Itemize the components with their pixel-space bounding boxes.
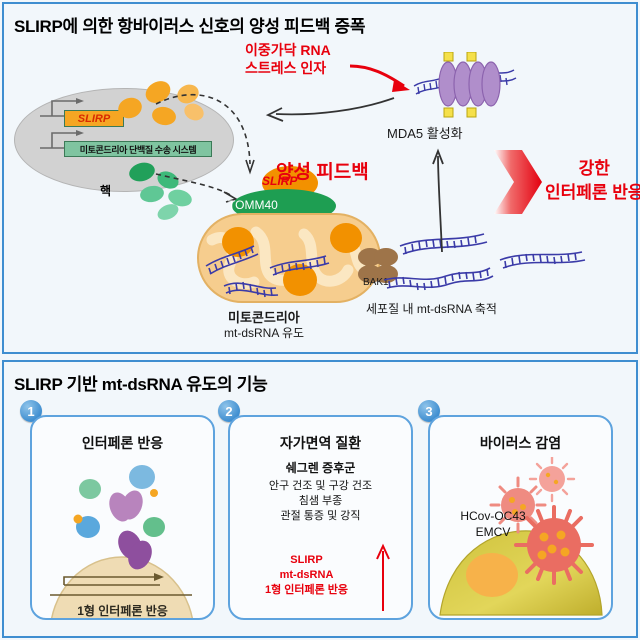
card1-cell-illustration [32, 465, 213, 620]
virus-small [530, 457, 574, 501]
card-interferon-response[interactable]: 인터페론 반응 1형 인터페론 반응 [30, 415, 215, 620]
card2-symptom-2: 침샘 부종 [230, 494, 411, 509]
dsrna-stress-label: 이중가닥 RNA 스트레스 인자 [245, 41, 331, 77]
card3-virus-2: EMCV [446, 525, 540, 540]
card-autoimmune-disease[interactable]: 자가면역 질환 쉐그렌 증후군 안구 건조 및 구강 건조 침샘 부종 관절 통… [228, 415, 413, 620]
card2-upreg-2: mt-dsRNA [244, 568, 369, 583]
card2-title: 자가면역 질환 [230, 433, 411, 453]
mda5-activation-label: MDA5 활성화 [387, 123, 463, 142]
strong-ifn-line1: 강한 [579, 159, 610, 178]
mito-dsrna-induction-label: mt-dsRNA 유도 [224, 324, 304, 341]
card1-cell-label: 1형 인터페론 반응 [32, 602, 213, 619]
positive-feedback-label: 양성 피드백 [276, 157, 369, 184]
nucleus-label: 핵 [100, 182, 111, 199]
stress-red-arrow [348, 58, 428, 98]
card2-symptom-3: 관절 통증 및 강직 [230, 509, 411, 524]
strong-ifn-line2: 인터페론 반응 [545, 183, 640, 202]
tomm40-label: TOMM40 [228, 198, 278, 212]
card2-upreg-3: 1형 인터페론 반응 [238, 583, 375, 598]
dsrna-to-mda5-arrow [428, 148, 452, 256]
bottom-panel-title: SLIRP 기반 mt-dsRNA 유도의 기능 [14, 370, 267, 395]
cytosolic-mtdsrna-label: 세포질 내 mt-dsRNA 축적 [366, 300, 497, 317]
strong-response-red-arrow [492, 144, 544, 220]
figure-root: SLIRP에 의한 항바이러스 신호의 양성 피드백 증폭 SLIRP 미토콘드… [0, 0, 640, 640]
mitochondrion-shape [196, 212, 382, 304]
card2-subtitle: 쉐그렌 증후군 [230, 461, 411, 476]
card2-symptom-1: 안구 건조 및 구강 건조 [230, 479, 411, 494]
card2-upreg-1: SLIRP [244, 553, 369, 568]
dsrna-stress-line2: 스트레스 인자 [245, 60, 326, 76]
card1-title: 인터페론 반응 [32, 433, 213, 453]
dsrna-stress-line1: 이중가닥 RNA [245, 42, 331, 58]
top-panel-title: SLIRP에 의한 항바이러스 신호의 양성 피드백 증폭 [14, 12, 365, 37]
mda5-to-nucleus-arrow [262, 96, 398, 136]
strong-interferon-response-label: 강한 인터페론 반응 [545, 157, 640, 205]
card2-upregulation-arrow [372, 543, 396, 613]
cytosolic-dsrna-strands [380, 232, 620, 304]
card-viral-infection[interactable]: 바이러스 감염 [428, 415, 613, 620]
card3-title: 바이러스 감염 [430, 433, 611, 453]
card3-virus-1: HCov-OC43 [446, 509, 540, 524]
